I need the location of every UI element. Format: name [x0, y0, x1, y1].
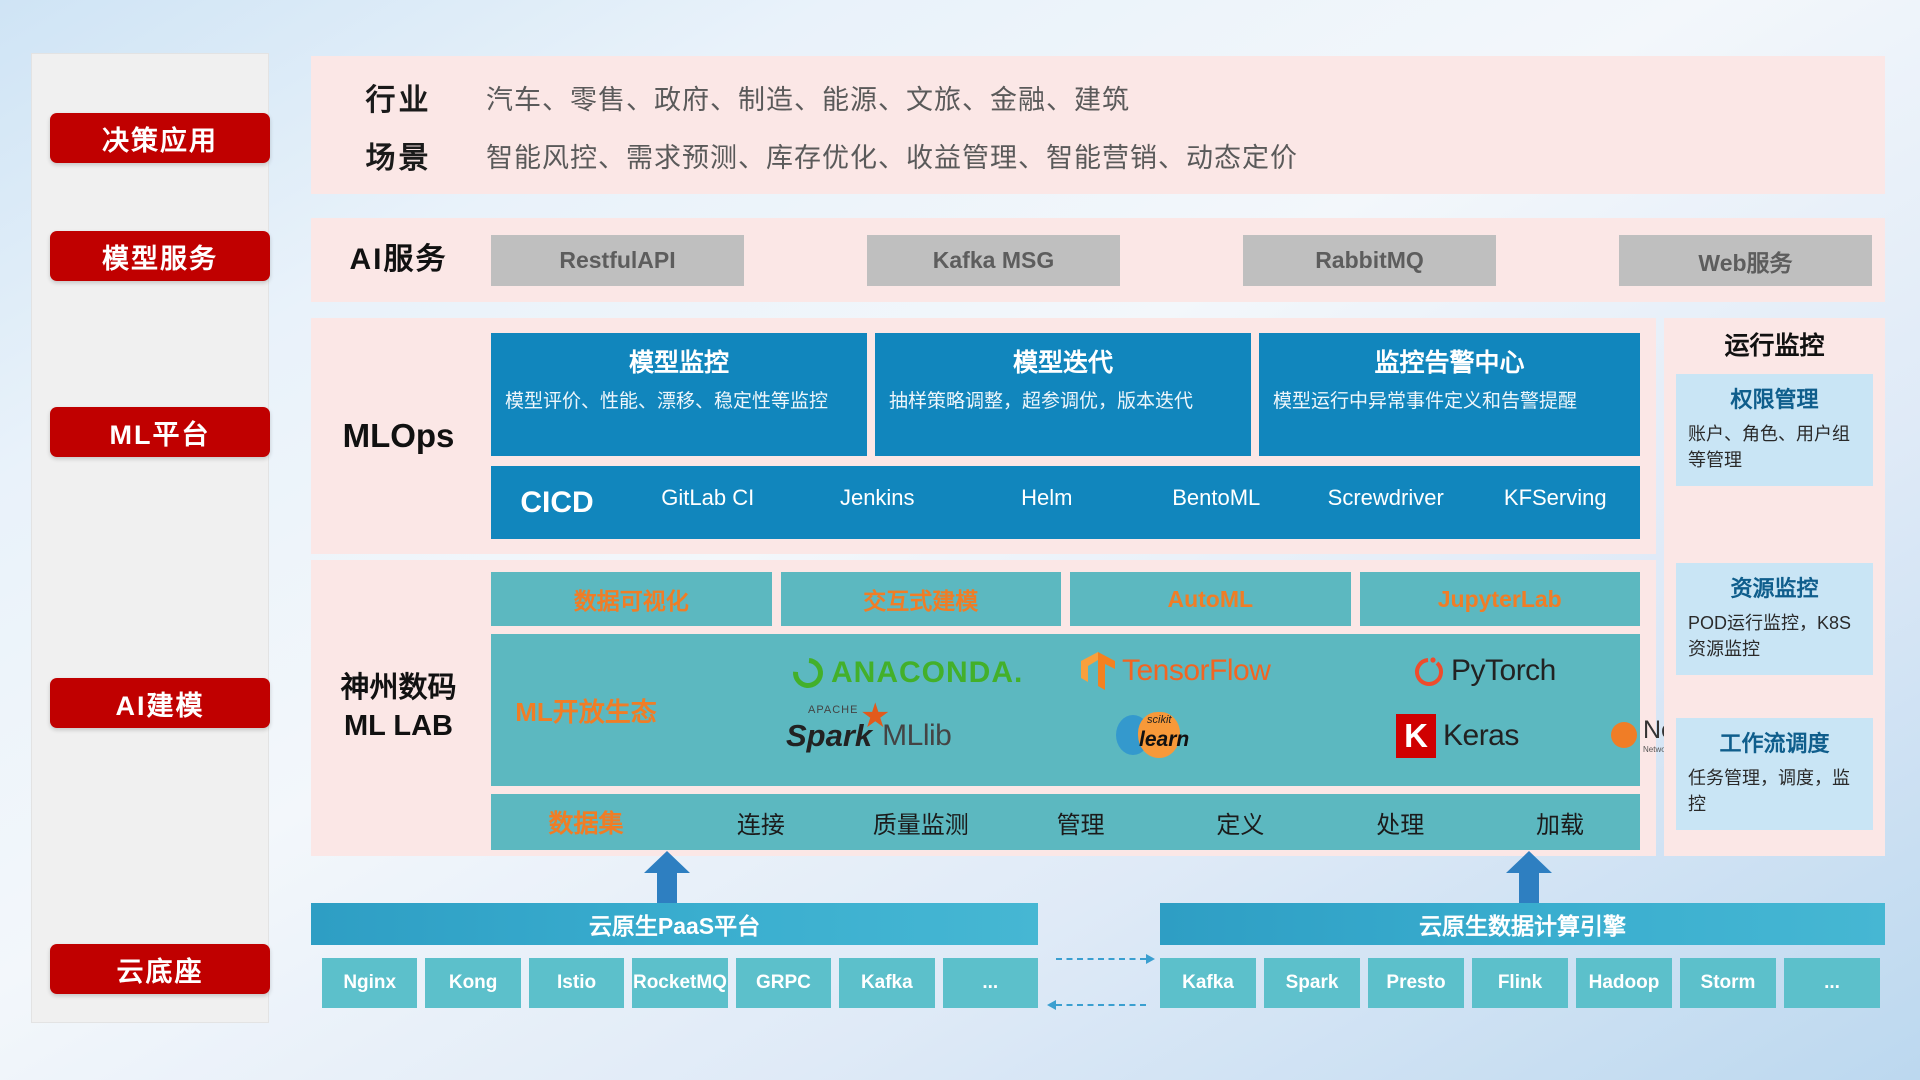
scikit-learn-logo: scikit learn: [1116, 712, 1180, 758]
chip-more-paas[interactable]: ...: [943, 958, 1038, 1008]
ai-service-label: AI服务: [311, 218, 486, 302]
rail-tag-model-service[interactable]: 模型服务: [50, 231, 270, 281]
monitor-card-title: 工作流调度: [1688, 726, 1861, 758]
industry-row: 行业 汽车、零售、政府、制造、能源、文旅、金融、建筑: [311, 69, 1885, 125]
spark-mllib-logo: APACHE ★ Spark MLlib: [786, 718, 951, 754]
scenario-values: 智能风控、需求预测、库存优化、收益管理、智能营销、动态定价: [486, 136, 1298, 175]
mlops-card-desc: 模型评价、性能、漂移、稳定性等监控: [505, 389, 853, 416]
chip-nginx[interactable]: Nginx: [322, 958, 417, 1008]
chip-hadoop[interactable]: Hadoop: [1576, 958, 1672, 1008]
link-arrow-left-head-icon: [1047, 1000, 1056, 1010]
model-service-layer: AI服务 RestfulAPI Kafka MSG RabbitMQ Web服务: [311, 218, 1885, 302]
cicd-item-jenkins[interactable]: Jenkins: [793, 466, 963, 512]
monitor-card-title: 资源监控: [1688, 571, 1861, 603]
ml-lab-label: 神州数码 ML LAB: [311, 560, 486, 856]
rail-tag-ml-platform[interactable]: ML平台: [50, 407, 270, 457]
learn-label: learn: [1139, 728, 1189, 752]
cicd-item-helm[interactable]: Helm: [962, 466, 1132, 512]
monitor-card-resource[interactable]: 资源监控 POD运行监控，K8S资源监控: [1676, 563, 1873, 675]
layer-rail: [31, 53, 269, 1023]
scikit-label: scikit: [1147, 714, 1171, 726]
rail-tag-decision-apps[interactable]: 决策应用: [50, 113, 270, 163]
dataset-item-load[interactable]: 加载: [1480, 805, 1640, 840]
chip-kafka-compute[interactable]: Kafka: [1160, 958, 1256, 1008]
chip-storm[interactable]: Storm: [1680, 958, 1776, 1008]
cicd-title: CICD: [491, 466, 623, 539]
keras-mark-icon: K: [1396, 714, 1436, 758]
mlops-card-title: 模型监控: [505, 343, 853, 379]
mlops-card-title: 监控告警中心: [1273, 343, 1626, 379]
chip-istio[interactable]: Istio: [529, 958, 624, 1008]
modeling-tools-row: 数据可视化 交互式建模 AutoML JupyterLab: [491, 572, 1640, 626]
dataset-item-manage[interactable]: 管理: [1001, 805, 1161, 840]
cicd-bar: CICD GitLab CI Jenkins Helm BentoML Scre…: [491, 466, 1640, 539]
link-arrow-right: [1056, 958, 1146, 960]
chip-spark[interactable]: Spark: [1264, 958, 1360, 1008]
mllib-label: MLlib: [882, 719, 951, 753]
monitor-card-desc: 账户、角色、用户组等管理: [1688, 421, 1861, 473]
mlops-card-desc: 抽样策略调整，超参调优，版本迭代: [889, 389, 1237, 416]
pytorch-logo: PyTorch: [1413, 654, 1556, 688]
cicd-item-bentoml[interactable]: BentoML: [1132, 466, 1302, 512]
mlops-card-model-iteration[interactable]: 模型迭代 抽样策略调整，超参调优，版本迭代: [875, 333, 1251, 456]
dataset-title: 数据集: [491, 804, 681, 840]
chip-more-compute[interactable]: ...: [1784, 958, 1880, 1008]
cloud-paas-bar: 云原生PaaS平台: [311, 903, 1038, 945]
mlops-card-model-monitoring[interactable]: 模型监控 模型评价、性能、漂移、稳定性等监控: [491, 333, 867, 456]
monitor-card-desc: 任务管理，调度，监控: [1688, 765, 1861, 817]
mlops-card-desc: 模型运行中异常事件定义和告警提醒: [1273, 389, 1626, 416]
paas-chip-row: Nginx Kong Istio RocketMQ GRPC Kafka ...: [322, 958, 1038, 1008]
dataset-item-quality[interactable]: 质量监测: [841, 805, 1001, 840]
chip-kafka-paas[interactable]: Kafka: [839, 958, 934, 1008]
scikit-orange-blob-icon: scikit learn: [1138, 712, 1180, 758]
decision-apps-layer: 行业 汽车、零售、政府、制造、能源、文旅、金融、建筑 场景 智能风控、需求预测、…: [311, 56, 1885, 194]
cloud-compute-bar: 云原生数据计算引擎: [1160, 903, 1885, 945]
mlops-card-title: 模型迭代: [889, 343, 1237, 379]
tool-automl[interactable]: AutoML: [1070, 572, 1351, 626]
runtime-monitoring-column: 运行监控 权限管理 账户、角色、用户组等管理 资源监控 POD运行监控，K8S资…: [1664, 318, 1885, 856]
service-box-rabbitmq[interactable]: RabbitMQ: [1243, 235, 1496, 286]
monitor-card-workflow[interactable]: 工作流调度 任务管理，调度，监控: [1676, 718, 1873, 830]
cicd-item-gitlab-ci[interactable]: GitLab CI: [623, 466, 793, 512]
spark-star-icon: ★: [860, 696, 890, 736]
monitor-card-title: 权限管理: [1688, 382, 1861, 414]
dataset-band: 数据集 连接 质量监测 管理 定义 处理 加载: [491, 794, 1640, 850]
anaconda-ring-icon: [787, 652, 829, 694]
upward-arrow-compute-icon: [1506, 851, 1552, 903]
monitor-card-desc: POD运行监控，K8S资源监控: [1688, 610, 1861, 662]
runtime-monitoring-title: 运行监控: [1664, 326, 1885, 362]
ml-ecosystem-title: ML开放生态: [491, 692, 681, 729]
chip-flink[interactable]: Flink: [1472, 958, 1568, 1008]
cicd-item-screwdriver[interactable]: Screwdriver: [1301, 466, 1471, 512]
tensorflow-mark-icon: [1081, 652, 1115, 690]
anaconda-logo: ANACONDA.: [793, 656, 1023, 690]
anaconda-label: ANACONDA.: [831, 656, 1023, 690]
industry-label: 行业: [311, 75, 486, 119]
upward-arrow-paas-icon: [644, 851, 690, 903]
cicd-item-kfserving[interactable]: KFServing: [1471, 466, 1641, 512]
link-arrow-left: [1056, 1004, 1146, 1006]
keras-label: Keras: [1443, 719, 1519, 753]
tensorflow-label: TensorFlow: [1122, 654, 1270, 688]
chip-grpc[interactable]: GRPC: [736, 958, 831, 1008]
link-arrow-right-head-icon: [1146, 954, 1155, 964]
scenario-row: 场景 智能风控、需求预测、库存优化、收益管理、智能营销、动态定价: [311, 127, 1885, 183]
chip-rocketmq[interactable]: RocketMQ: [632, 958, 727, 1008]
ai-modeling-layer: 神州数码 ML LAB 数据可视化 交互式建模 AutoML JupyterLa…: [311, 560, 1656, 856]
mlops-card-alert-center[interactable]: 监控告警中心 模型运行中异常事件定义和告警提醒: [1259, 333, 1640, 456]
rail-tag-ai-modeling[interactable]: AI建模: [50, 678, 270, 728]
ml-lab-label-line2: ML LAB: [340, 708, 456, 746]
monitor-card-permission[interactable]: 权限管理 账户、角色、用户组等管理: [1676, 374, 1873, 486]
apache-label: APACHE: [808, 704, 858, 716]
chip-presto[interactable]: Presto: [1368, 958, 1464, 1008]
dataset-item-process[interactable]: 处理: [1320, 805, 1480, 840]
dataset-item-define[interactable]: 定义: [1160, 805, 1320, 840]
industry-values: 汽车、零售、政府、制造、能源、文旅、金融、建筑: [486, 78, 1130, 117]
compute-chip-row: Kafka Spark Presto Flink Hadoop Storm ..…: [1160, 958, 1885, 1008]
tool-data-visualization[interactable]: 数据可视化: [491, 572, 772, 626]
service-box-web[interactable]: Web服务: [1619, 235, 1872, 286]
rail-tag-cloud-base[interactable]: 云底座: [50, 944, 270, 994]
pytorch-label: PyTorch: [1451, 654, 1556, 688]
tensorflow-logo: TensorFlow: [1081, 652, 1270, 690]
tool-interactive-modeling[interactable]: 交互式建模: [781, 572, 1062, 626]
networkx-node-icon: [1611, 722, 1637, 748]
scenario-label: 场景: [311, 133, 486, 177]
architecture-diagram: 决策应用 模型服务 ML平台 AI建模 云底座 行业 汽车、零售、政府、制造、能…: [0, 0, 1920, 1080]
service-box-kafka-msg[interactable]: Kafka MSG: [867, 235, 1120, 286]
chip-kong[interactable]: Kong: [425, 958, 520, 1008]
dataset-item-connect[interactable]: 连接: [681, 805, 841, 840]
pytorch-flame-icon: [1413, 654, 1443, 688]
ml-lab-label-line1: 神州数码: [340, 670, 456, 708]
mlops-label: MLOps: [311, 318, 486, 554]
ml-platform-layer: MLOps 模型监控 模型评价、性能、漂移、稳定性等监控 模型迭代 抽样策略调整…: [311, 318, 1656, 554]
tool-jupyterlab[interactable]: JupyterLab: [1360, 572, 1641, 626]
service-box-restfulapi[interactable]: RestfulAPI: [491, 235, 744, 286]
keras-logo: K Keras: [1396, 714, 1519, 758]
ml-ecosystem-band: ML开放生态 ANACONDA. TensorFlow: [491, 634, 1640, 786]
